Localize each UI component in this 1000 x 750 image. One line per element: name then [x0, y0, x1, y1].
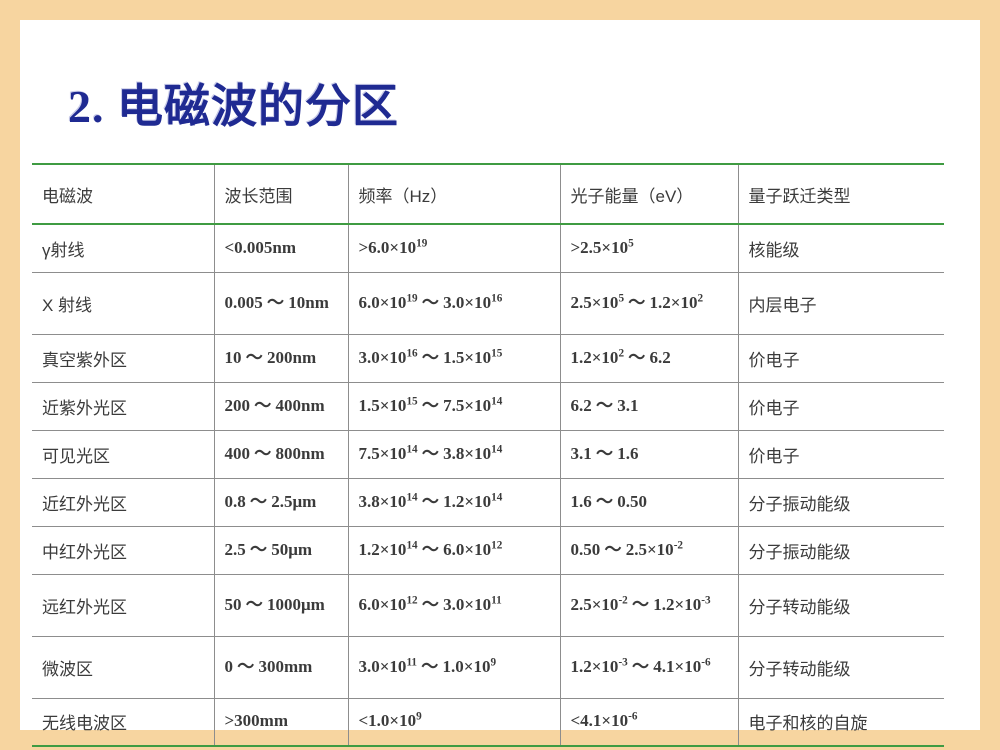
cell-transition-type: 分子转动能级: [738, 636, 944, 698]
mantissa: >6.0×10: [359, 238, 417, 257]
exponent: 14: [406, 443, 417, 455]
mantissa: ～ 3.0×10: [418, 293, 491, 312]
column-header-wave-type: 电磁波: [32, 164, 214, 224]
mantissa: ～ 1.2×10: [628, 595, 701, 614]
exponent: 2: [697, 292, 703, 304]
exponent: 9: [490, 656, 496, 668]
table-row: 微波区0 ～ 300mm3.0×1011 ～ 1.0×1091.2×10-3 ～…: [32, 636, 944, 698]
mantissa: ～ 1.2×10: [418, 492, 491, 511]
cell-transition-type: 电子和核的自旋: [738, 698, 944, 746]
mantissa: <4.1×10: [571, 711, 629, 730]
cell-photon-energy: >2.5×105: [560, 224, 738, 272]
cell-wave-type: 近紫外光区: [32, 382, 214, 430]
table-row: γ射线<0.005nm>6.0×1019>2.5×105核能级: [32, 224, 944, 272]
exponent: 14: [491, 491, 502, 503]
cell-photon-energy: 1.2×102 ～ 6.2: [560, 334, 738, 382]
cell-frequency: 3.0×1016 ～ 1.5×1015: [348, 334, 560, 382]
exponent: 12: [406, 594, 417, 606]
table-body: γ射线<0.005nm>6.0×1019>2.5×105核能级X 射线0.005…: [32, 224, 944, 746]
cell-frequency: 6.0×1012 ～ 3.0×1011: [348, 574, 560, 636]
cell-photon-energy: 2.5×10-2 ～ 1.2×10-3: [560, 574, 738, 636]
cell-transition-type: 价电子: [738, 334, 944, 382]
exponent: 12: [491, 539, 502, 551]
cell-wavelength: 0 ～ 300mm: [214, 636, 348, 698]
cell-frequency: 7.5×1014 ～ 3.8×1014: [348, 430, 560, 478]
table-header: 电磁波 波长范围 频率（Hz） 光子能量（eV） 量子跃迁类型: [32, 164, 944, 224]
cell-wavelength: 2.5 ～ 50μm: [214, 526, 348, 574]
exponent: 19: [406, 292, 417, 304]
mantissa: 6.2 ～ 3.1: [571, 396, 639, 415]
mantissa: 1.2×10: [359, 540, 407, 559]
cell-photon-energy: <4.1×10-6: [560, 698, 738, 746]
cell-photon-energy: 1.2×10-3 ～ 4.1×10-6: [560, 636, 738, 698]
mantissa: ～ 6.0×10: [418, 540, 491, 559]
mantissa: ～ 3.0×10: [418, 595, 491, 614]
mantissa: 3.0×10: [359, 657, 407, 676]
exponent: -2: [618, 594, 627, 606]
exponent: 15: [491, 347, 502, 359]
cell-frequency: 6.0×1019 ～ 3.0×1016: [348, 272, 560, 334]
cell-wavelength: 0.005 ～ 10nm: [214, 272, 348, 334]
mantissa: 1.2×10: [571, 348, 619, 367]
cell-frequency: 1.5×1015 ～ 7.5×1014: [348, 382, 560, 430]
cell-frequency: 1.2×1014 ～ 6.0×1012: [348, 526, 560, 574]
cell-wavelength: <0.005nm: [214, 224, 348, 272]
cell-transition-type: 内层电子: [738, 272, 944, 334]
mantissa: 2.5×10: [571, 595, 619, 614]
cell-frequency: >6.0×1019: [348, 224, 560, 272]
cell-wave-type: 真空紫外区: [32, 334, 214, 382]
cell-wave-type: γ射线: [32, 224, 214, 272]
table-row: 近红外光区0.8 ～ 2.5μm3.8×1014 ～ 1.2×10141.6 ～…: [32, 478, 944, 526]
exponent: 14: [491, 395, 502, 407]
cell-wave-type: 无线电波区: [32, 698, 214, 746]
table-row: 可见光区400 ～ 800nm7.5×1014 ～ 3.8×10143.1 ～ …: [32, 430, 944, 478]
cell-transition-type: 核能级: [738, 224, 944, 272]
mantissa: 2.5×10: [571, 293, 619, 312]
exponent: 15: [406, 395, 417, 407]
mantissa: ～ 4.1×10: [628, 657, 701, 676]
cell-photon-energy: 3.1 ～ 1.6: [560, 430, 738, 478]
mantissa: ～ 1.2×10: [624, 293, 697, 312]
mantissa: ～ 1.5×10: [418, 348, 491, 367]
spectrum-table-container: 电磁波 波长范围 频率（Hz） 光子能量（eV） 量子跃迁类型 γ射线<0.00…: [32, 163, 944, 747]
column-header-transition-type: 量子跃迁类型: [738, 164, 944, 224]
cell-wavelength: 0.8 ～ 2.5μm: [214, 478, 348, 526]
mantissa: 7.5×10: [359, 444, 407, 463]
cell-photon-energy: 6.2 ～ 3.1: [560, 382, 738, 430]
table-header-row: 电磁波 波长范围 频率（Hz） 光子能量（eV） 量子跃迁类型: [32, 164, 944, 224]
page-title: 2. 电磁波的分区: [68, 70, 399, 136]
cell-wave-type: 可见光区: [32, 430, 214, 478]
cell-transition-type: 分子转动能级: [738, 574, 944, 636]
cell-wavelength: 50 ～ 1000μm: [214, 574, 348, 636]
mantissa: 3.0×10: [359, 348, 407, 367]
table-row: 无线电波区>300mm<1.0×109<4.1×10-6电子和核的自旋: [32, 698, 944, 746]
mantissa: ～ 3.8×10: [418, 444, 491, 463]
cell-photon-energy: 0.50 ～ 2.5×10-2: [560, 526, 738, 574]
mantissa: ～ 7.5×10: [418, 396, 491, 415]
exponent: 11: [406, 656, 417, 668]
exponent: 14: [491, 443, 502, 455]
mantissa: 6.0×10: [359, 293, 407, 312]
exponent: -3: [618, 656, 627, 668]
exponent: 5: [628, 237, 634, 249]
column-header-photon-energy: 光子能量（eV）: [560, 164, 738, 224]
table-row: X 射线0.005 ～ 10nm6.0×1019 ～ 3.0×10162.5×1…: [32, 272, 944, 334]
mantissa: 3.1 ～ 1.6: [571, 444, 639, 463]
column-header-wavelength: 波长范围: [214, 164, 348, 224]
cell-frequency: 3.0×1011 ～ 1.0×109: [348, 636, 560, 698]
mantissa: <1.0×10: [359, 711, 417, 730]
exponent: -6: [628, 711, 637, 723]
exponent: 14: [406, 491, 417, 503]
cell-transition-type: 价电子: [738, 382, 944, 430]
cell-wave-type: 近红外光区: [32, 478, 214, 526]
cell-wavelength: 400 ～ 800nm: [214, 430, 348, 478]
cell-photon-energy: 2.5×105 ～ 1.2×102: [560, 272, 738, 334]
electromagnetic-spectrum-table: 电磁波 波长范围 频率（Hz） 光子能量（eV） 量子跃迁类型 γ射线<0.00…: [32, 163, 944, 747]
column-header-frequency: 频率（Hz）: [348, 164, 560, 224]
cell-frequency: 3.8×1014 ～ 1.2×1014: [348, 478, 560, 526]
exponent: -3: [701, 594, 710, 606]
cell-wave-type: 远红外光区: [32, 574, 214, 636]
mantissa: 3.8×10: [359, 492, 407, 511]
cell-wavelength: 200 ～ 400nm: [214, 382, 348, 430]
exponent: 9: [416, 711, 422, 723]
cell-frequency: <1.0×109: [348, 698, 560, 746]
cell-photon-energy: 1.6 ～ 0.50: [560, 478, 738, 526]
exponent: -6: [701, 656, 710, 668]
table-row: 中红外光区2.5 ～ 50μm1.2×1014 ～ 6.0×10120.50 ～…: [32, 526, 944, 574]
table-row: 真空紫外区10 ～ 200nm3.0×1016 ～ 1.5×10151.2×10…: [32, 334, 944, 382]
exponent: -2: [674, 539, 683, 551]
cell-wave-type: 中红外光区: [32, 526, 214, 574]
cell-wavelength: >300mm: [214, 698, 348, 746]
cell-transition-type: 价电子: [738, 430, 944, 478]
mantissa: ～ 6.2: [624, 348, 671, 367]
table-row: 近紫外光区200 ～ 400nm1.5×1015 ～ 7.5×10146.2 ～…: [32, 382, 944, 430]
mantissa: 0.50 ～ 2.5×10: [571, 540, 674, 559]
exponent: 11: [491, 594, 502, 606]
table-row: 远红外光区50 ～ 1000μm6.0×1012 ～ 3.0×10112.5×1…: [32, 574, 944, 636]
exponent: 16: [491, 292, 502, 304]
mantissa: 1.6 ～ 0.50: [571, 492, 648, 511]
mantissa: 1.5×10: [359, 396, 407, 415]
cell-transition-type: 分子振动能级: [738, 478, 944, 526]
mantissa: ～ 1.0×10: [417, 657, 490, 676]
cell-transition-type: 分子振动能级: [738, 526, 944, 574]
mantissa: 1.2×10: [571, 657, 619, 676]
cell-wave-type: X 射线: [32, 272, 214, 334]
cell-wavelength: 10 ～ 200nm: [214, 334, 348, 382]
slide-canvas: 2. 电磁波的分区 电磁波 波长范围 频率（Hz） 光子能量（eV） 量子跃迁类…: [0, 0, 1000, 750]
exponent: 14: [406, 539, 417, 551]
exponent: 16: [406, 347, 417, 359]
mantissa: >2.5×10: [571, 238, 629, 257]
mantissa: 6.0×10: [359, 595, 407, 614]
exponent: 19: [416, 237, 427, 249]
cell-wave-type: 微波区: [32, 636, 214, 698]
